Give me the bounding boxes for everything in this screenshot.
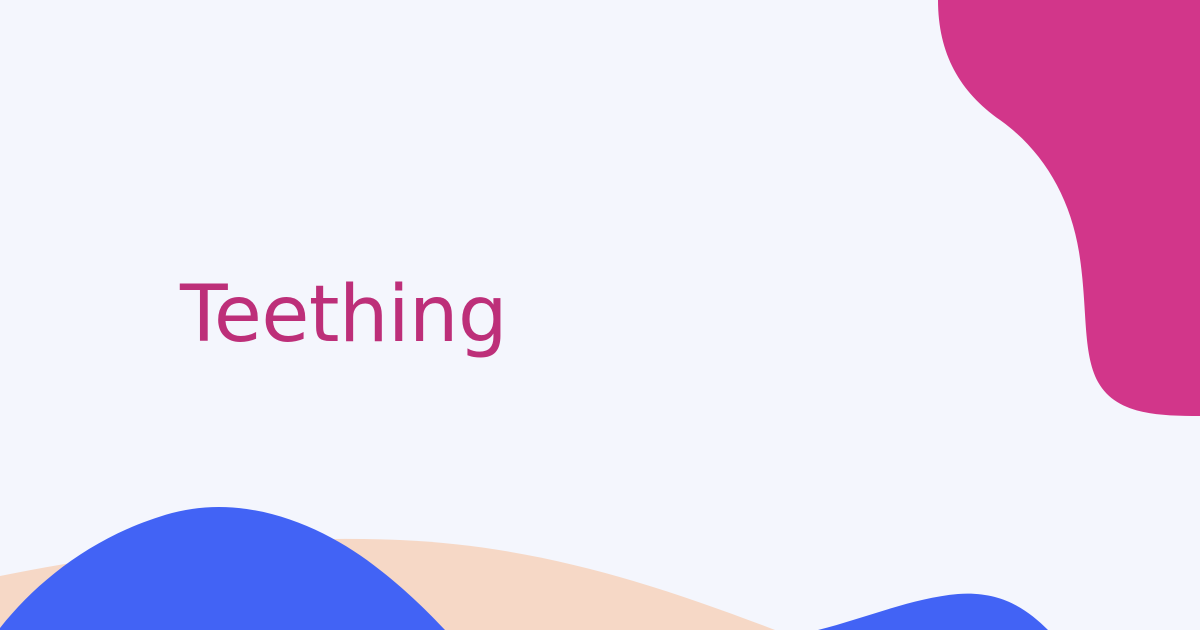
share-card-canvas: Teething xyxy=(0,0,1200,630)
decorative-background xyxy=(0,0,1200,630)
